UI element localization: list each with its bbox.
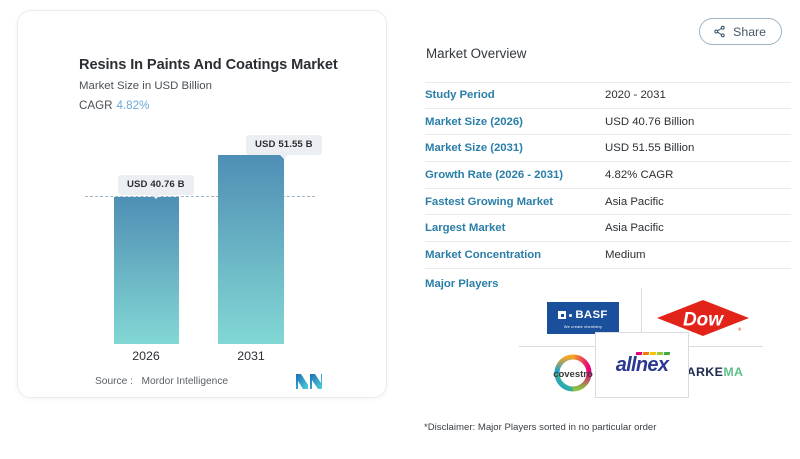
table-row: Market Size (2026) USD 40.76 Billion [425,109,791,136]
row-value: Asia Pacific [605,222,664,234]
panel-title: Market Overview [426,46,526,61]
bar-2031 [218,155,284,344]
x-tick-2026: 2026 [106,349,186,363]
source-label: Source : [95,376,133,387]
row-key: Study Period [425,89,605,101]
basf-logo-icon: BASF We create chemistry [547,302,619,334]
arkema-word-a: ARKE [687,365,724,379]
row-key: Market Concentration [425,249,605,261]
table-row: Growth Rate (2026 - 2031) 4.82% CAGR [425,162,791,189]
row-value: 4.82% CAGR [605,169,673,181]
row-value: Medium [605,249,646,261]
allnex-wordmark-wrap: allnex [616,354,669,377]
row-key: Largest Market [425,222,605,234]
share-nodes-icon [713,25,726,38]
basf-tagline: We create chemistry [564,324,602,329]
svg-text:Dow: Dow [683,310,724,331]
row-key: Growth Rate (2026 - 2031) [425,169,605,181]
major-players-logo-grid: BASF We create chemistry Dow ® [519,288,763,398]
svg-text:®: ® [738,326,742,332]
row-key: Market Size (2026) [425,116,605,128]
row-key: Market Size (2031) [425,142,605,154]
share-button-label: Share [733,25,766,39]
overview-panel: Share Market Overview Study Period 2020 … [416,0,800,459]
allnex-dashes-icon [635,352,670,355]
market-overview-infographic: Resins In Paints And Coatings Market Mar… [0,0,800,459]
table-row: Fastest Growing Market Asia Pacific [425,189,791,216]
source-name: Mordor Intelligence [141,376,228,387]
table-row: Study Period 2020 - 2031 [425,82,791,109]
bar-2026 [114,197,179,344]
table-row: Largest Market Asia Pacific [425,215,791,242]
basf-square-icon [558,311,566,319]
data-label-2031: USD 51.55 B [246,135,322,155]
arkema-word-b: MA [723,365,743,379]
basf-wordmark: BASF [575,309,607,321]
overview-table: Study Period 2020 - 2031 Market Size (20… [425,82,791,299]
source-text: Source : Mordor Intelligence [95,376,228,387]
chart-card: Resins In Paints And Coatings Market Mar… [17,10,387,398]
basf-dot-icon [569,314,572,317]
player-logo-allnex: allnex [595,332,689,398]
allnex-wordmark: allnex [616,354,669,376]
row-value: Asia Pacific [605,196,664,208]
table-row: Market Size (2031) USD 51.55 Billion [425,135,791,162]
table-row: Market Concentration Medium [425,242,791,269]
data-label-2026: USD 40.76 B [118,175,194,195]
x-tick-2031: 2031 [211,349,291,363]
share-button[interactable]: Share [699,18,782,45]
disclaimer-text: *Disclaimer: Major Players sorted in no … [424,422,656,433]
arkema-wordmark: ARKEMA [687,365,744,379]
row-key: Fastest Growing Market [425,196,605,208]
row-value: 2020 - 2031 [605,89,666,101]
row-value: USD 51.55 Billion [605,142,694,154]
mordor-intelligence-logo-icon [295,373,323,390]
svg-text:covestro: covestro [553,369,593,380]
row-value: USD 40.76 Billion [605,116,694,128]
bar-chart-plot: USD 40.76 B USD 51.55 B 2026 2031 [18,11,388,399]
